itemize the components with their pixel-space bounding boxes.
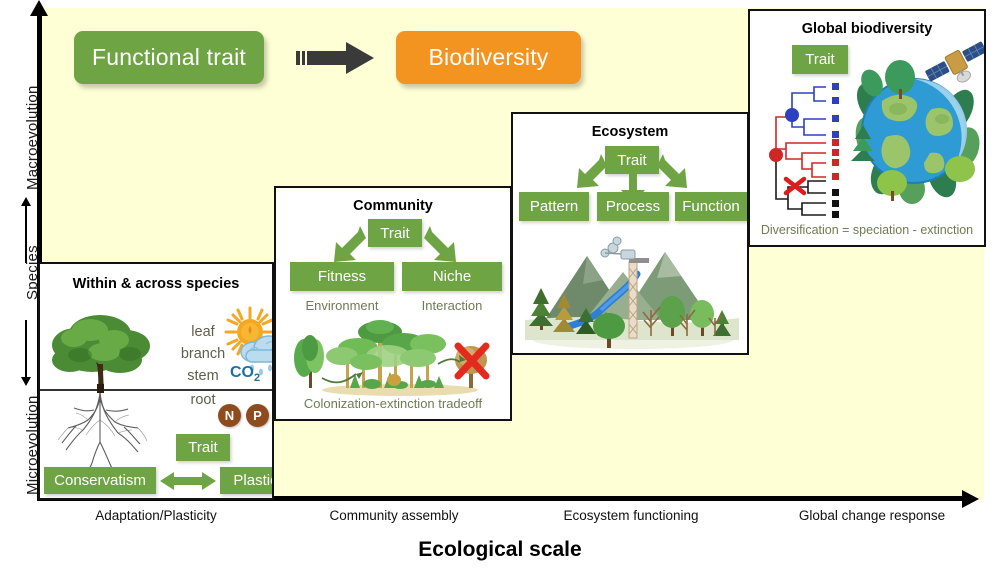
function-label: Function <box>682 198 740 215</box>
process-label: Process <box>606 198 660 215</box>
phylogenetic-tree-icon <box>756 83 846 218</box>
y-axis-down-arrow-icon <box>25 320 27 378</box>
function-box[interactable]: Function <box>675 192 747 221</box>
co2-label: CO2 <box>230 364 260 384</box>
niche-box[interactable]: Niche <box>402 262 502 291</box>
niche-label: Niche <box>433 268 471 285</box>
colonization-extinction-caption: Colonization-extinction tradeoff <box>276 396 510 411</box>
within-trait-label: Trait <box>188 439 217 456</box>
x-tick-ecosystem-functioning: Ecosystem functioning <box>524 508 738 523</box>
tree-with-roots-icon <box>46 300 158 480</box>
within-trait-box[interactable]: Trait <box>176 434 230 461</box>
global-trait-label: Trait <box>805 51 834 68</box>
fitness-box[interactable]: Fitness <box>290 262 394 291</box>
panel-within-title: Within & across species <box>40 276 272 292</box>
plasticity-label: Plasticity <box>233 472 274 489</box>
double-headed-arrow-icon <box>160 469 216 493</box>
panel-within-across-species[interactable]: Within & across species <box>38 262 274 500</box>
functional-trait-pill[interactable]: Functional trait <box>74 31 264 84</box>
arrow-trait-to-niche-icon <box>420 226 466 266</box>
pattern-label: Pattern <box>530 198 578 215</box>
global-trait-box[interactable]: Trait <box>792 45 848 74</box>
biodiversity-pill[interactable]: Biodiversity <box>396 31 581 84</box>
ecosystem-trait-box[interactable]: Trait <box>605 146 659 174</box>
interaction-caption: Interaction <box>402 298 502 313</box>
x-axis-arrowhead <box>962 490 979 508</box>
community-trait-label: Trait <box>380 225 409 242</box>
fitness-label: Fitness <box>318 268 366 285</box>
conservatism-label: Conservatism <box>54 472 146 489</box>
nutrient-badge-p: P <box>246 404 269 427</box>
panel-ecosystem-title: Ecosystem <box>513 124 747 140</box>
functional-trait-label: Functional trait <box>92 44 246 71</box>
x-tick-adaptation-plasticity: Adaptation/Plasticity <box>56 508 256 523</box>
diversification-caption: Diversification = speciation - extinctio… <box>750 223 984 237</box>
y-axis-label-macroevolution: Macroevolution <box>24 85 41 190</box>
community-trait-box[interactable]: Trait <box>368 219 422 247</box>
co2-text: CO2 <box>230 364 260 381</box>
biodiversity-label: Biodiversity <box>429 44 549 71</box>
ecosystem-trait-label: Trait <box>617 152 646 169</box>
process-box[interactable]: Process <box>597 192 669 221</box>
arrow-trait-to-fitness-icon <box>324 226 370 266</box>
mountain-forest-flux-tower-icon <box>525 228 739 350</box>
x-tick-community-assembly: Community assembly <box>288 508 500 523</box>
environment-caption: Environment <box>290 298 394 313</box>
nutrient-badge-n: N <box>218 404 241 427</box>
arrow-trait-to-function-icon <box>657 154 699 192</box>
satellite-icon <box>924 31 986 93</box>
panel-global-biodiversity[interactable]: Global biodiversity Trait <box>748 9 986 247</box>
conservatism-box[interactable]: Conservatism <box>44 467 156 494</box>
x-tick-global-change-response: Global change response <box>762 508 982 523</box>
panel-ecosystem[interactable]: Ecosystem Trait Pattern Process Functio <box>511 112 749 355</box>
panel-community[interactable]: Community Trait Fitness Niche Environmen… <box>274 186 512 421</box>
right-arrow-icon <box>296 42 374 74</box>
x-axis-title: Ecological scale <box>0 538 1000 562</box>
pattern-box[interactable]: Pattern <box>519 192 589 221</box>
organ-label-stem: stem <box>168 368 238 384</box>
arrow-trait-to-pattern-icon <box>565 154 607 192</box>
y-axis-arrowhead <box>30 0 48 16</box>
forest-stand-icon <box>288 318 500 396</box>
plasticity-box[interactable]: Plasticity <box>220 467 274 494</box>
panel-community-title: Community <box>276 198 510 214</box>
